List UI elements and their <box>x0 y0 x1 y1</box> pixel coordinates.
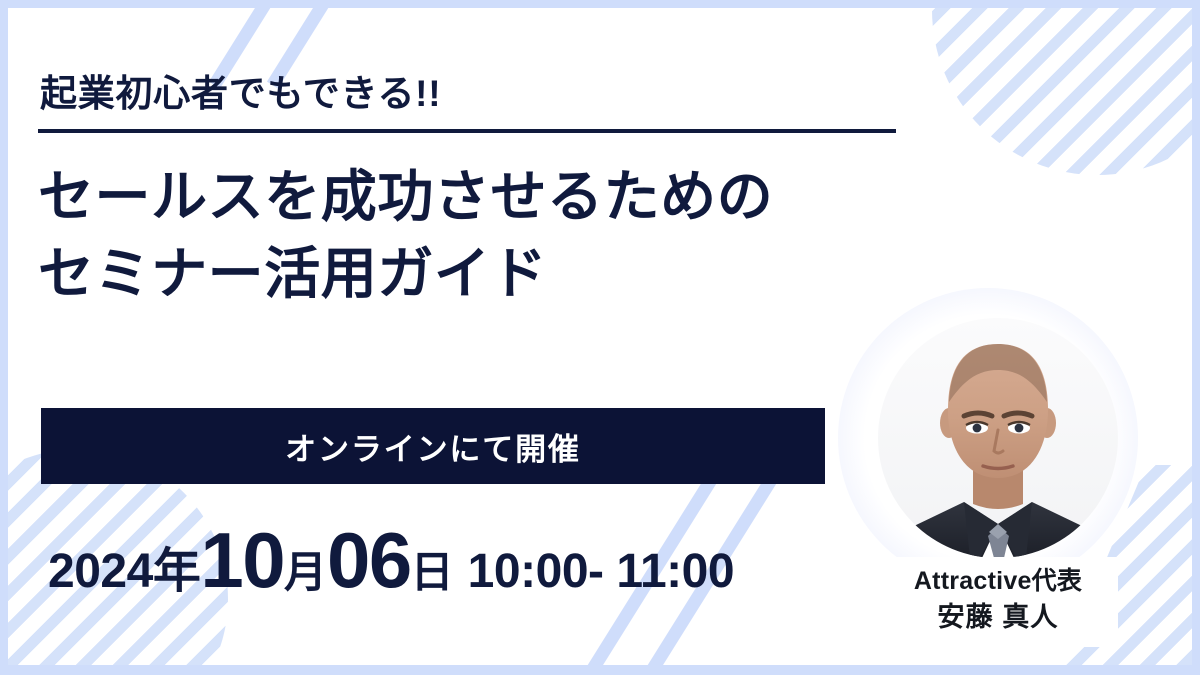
date-day: 06 <box>327 515 411 606</box>
date-day-unit: 日 <box>411 538 454 600</box>
header-divider-rule <box>38 129 896 133</box>
kicker-text: 起業初心者でもできる!! <box>40 63 441 117</box>
headline-line-2: セミナー活用ガイド <box>38 235 773 312</box>
speaker-info-card: Attractive代表 安藤 真人 <box>878 557 1118 647</box>
format-badge: オンラインにて開催 <box>41 408 825 484</box>
seminar-banner: 起業初心者でもできる!! セールスを成功させるための セミナー活用ガイド オンラ… <box>0 0 1200 675</box>
date-year: 2024年 <box>48 531 200 601</box>
event-time-range: 10:00- 11:00 <box>468 544 734 599</box>
portrait-illustration <box>878 318 1118 558</box>
page-title: セールスを成功させるための セミナー活用ガイド <box>38 158 773 313</box>
speaker-organization: Attractive代表 <box>878 565 1118 599</box>
date-month-unit: 月 <box>284 538 327 600</box>
event-datetime: 2024年 10 月 06 日 10:00- 11:00 <box>48 515 734 606</box>
date-month: 10 <box>200 515 284 606</box>
speaker-name: 安藤 真人 <box>878 599 1118 635</box>
headline-line-1: セールスを成功させるための <box>38 158 773 235</box>
striped-circle-top-right-decoration <box>932 0 1200 175</box>
format-badge-label: オンラインにて開催 <box>285 424 581 469</box>
speaker-portrait-photo <box>878 318 1118 558</box>
